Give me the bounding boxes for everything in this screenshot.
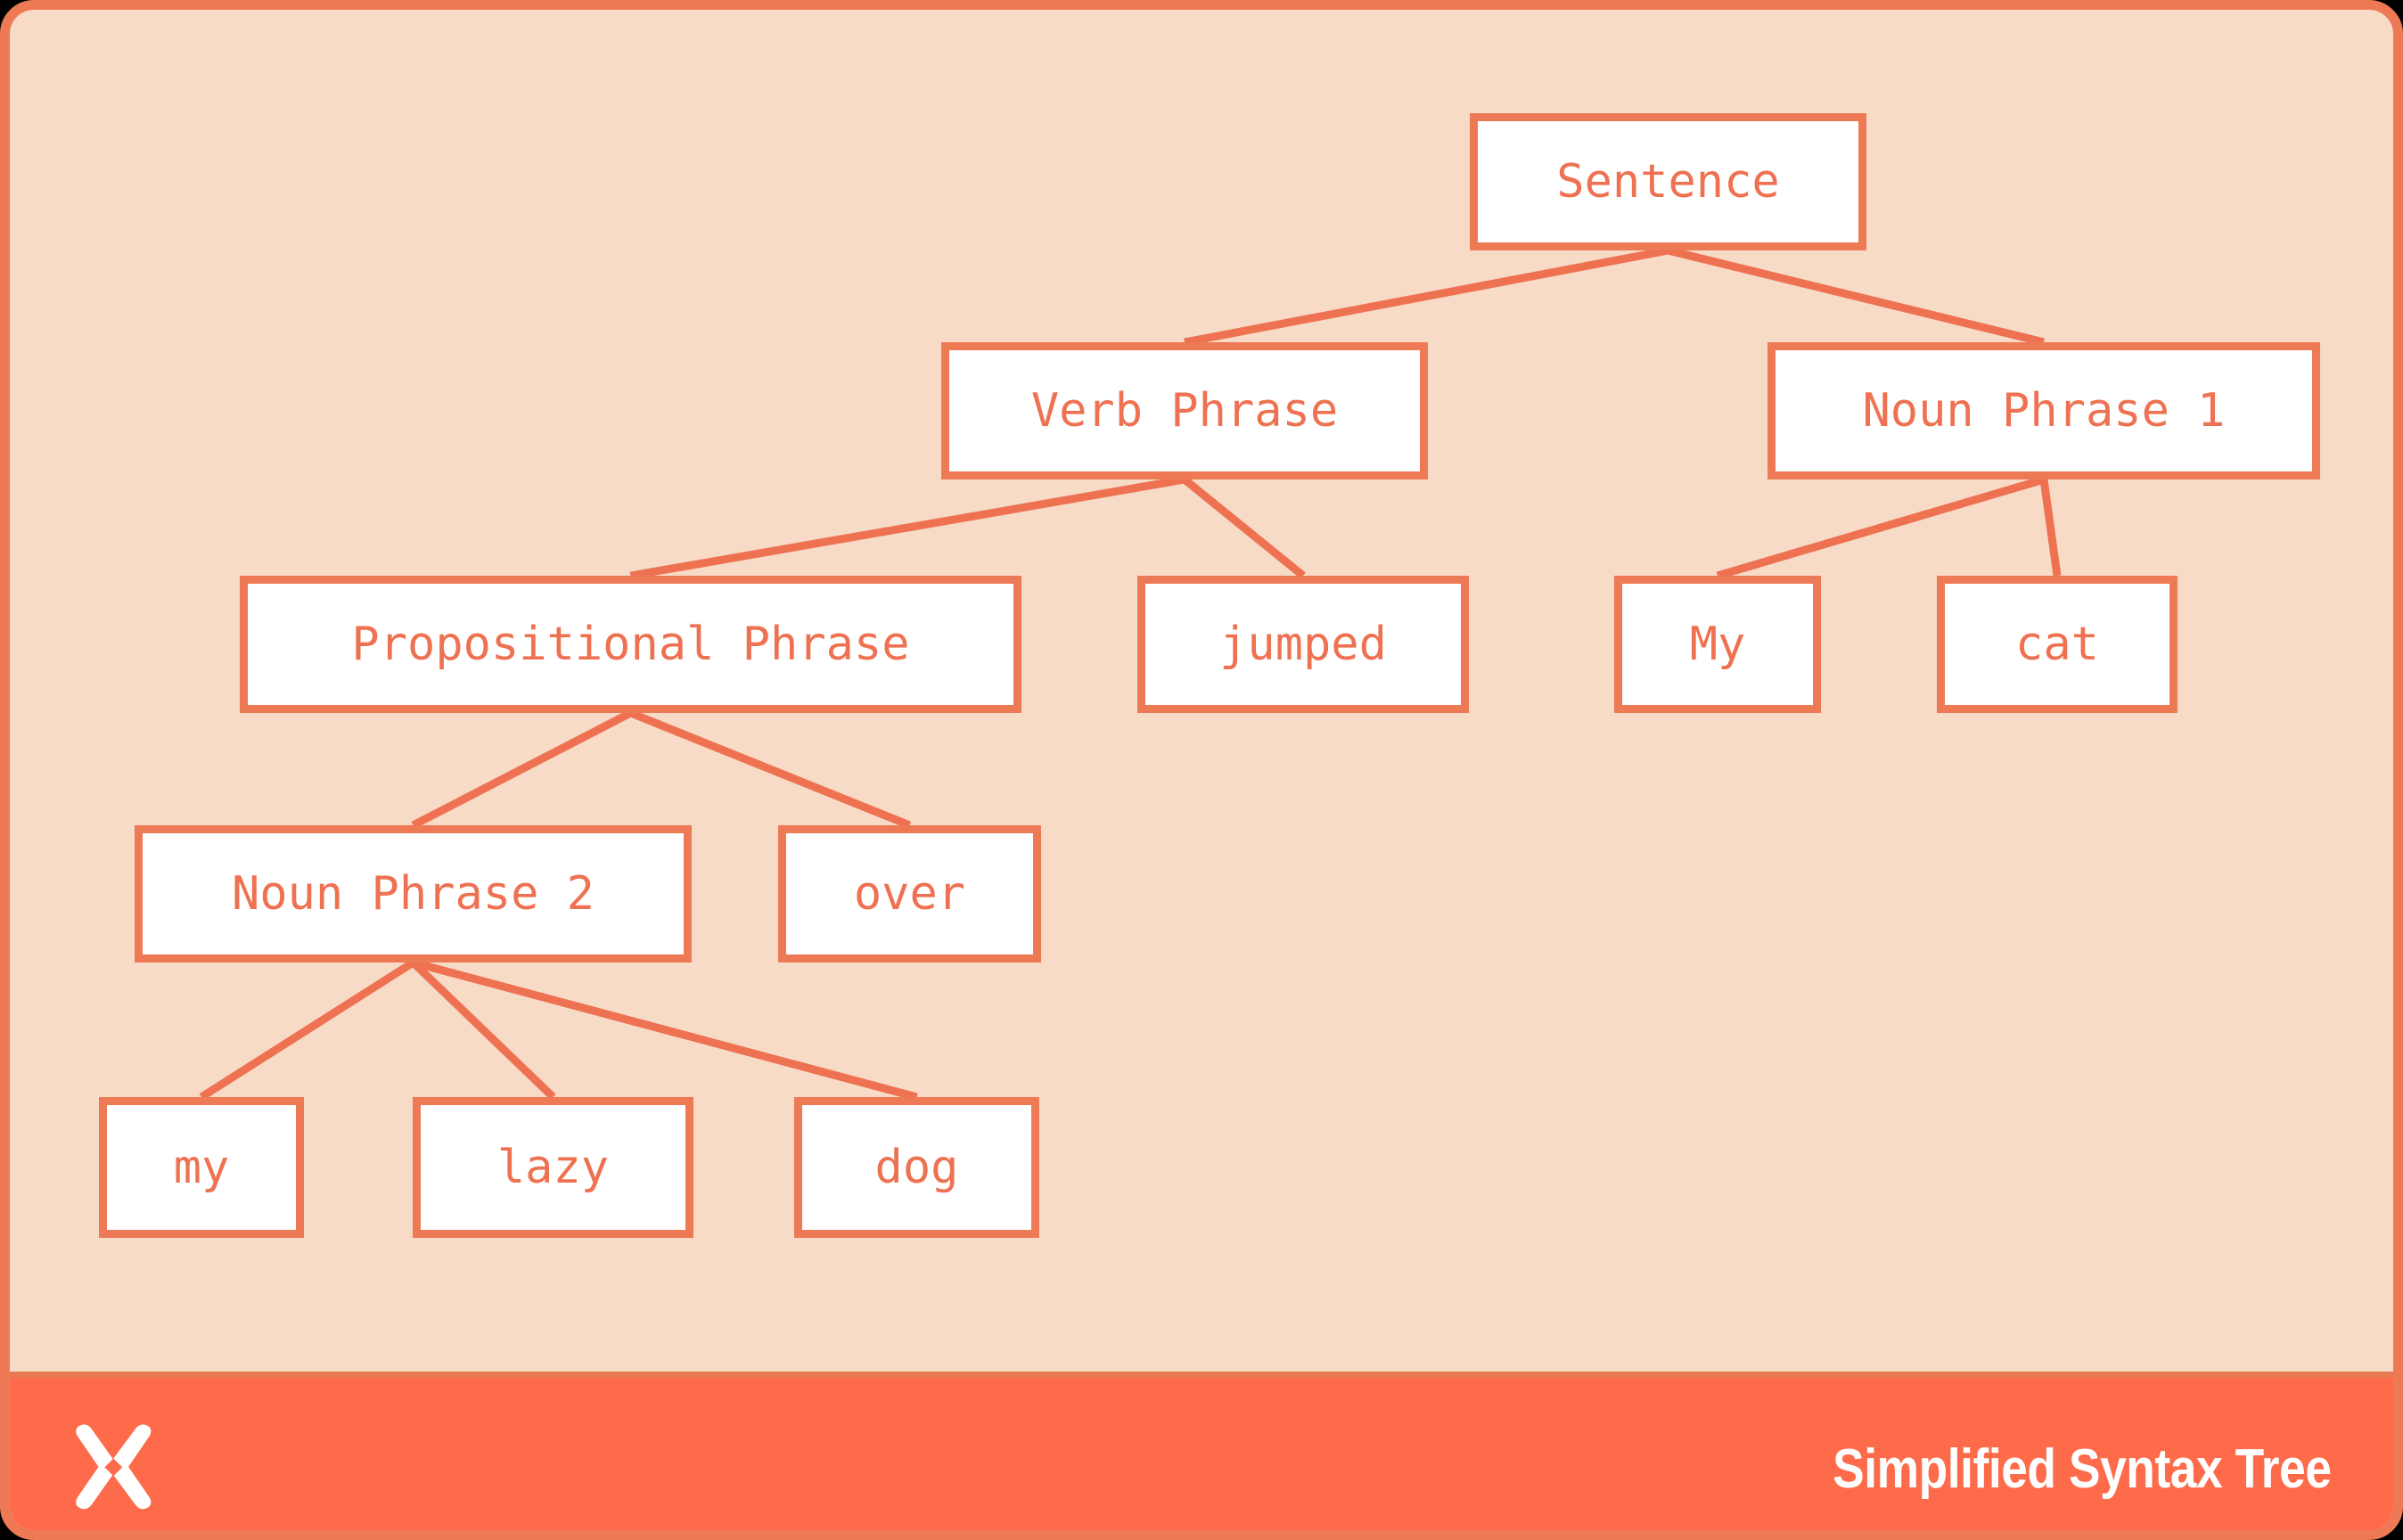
tree-node-label: my	[174, 1144, 230, 1191]
tree-node-prop-phrase[interactable]: Propositional Phrase	[240, 576, 1021, 713]
tree-node-jumped[interactable]: jumped	[1137, 576, 1469, 713]
tree-node-label: jumped	[1219, 621, 1387, 668]
tree-node-noun-phrase-2[interactable]: Noun Phrase 2	[135, 825, 692, 962]
footer-title: Simplified Syntax Tree	[1833, 1438, 2332, 1501]
tree-edge-noun-phrase-2-to-my-lower	[201, 962, 414, 1097]
tree-node-noun-phrase-1[interactable]: Noun Phrase 1	[1767, 342, 2320, 479]
tree-node-cat[interactable]: cat	[1937, 576, 2177, 713]
tree-node-label: dog	[875, 1144, 959, 1191]
tree-node-label: Verb Phrase	[1031, 388, 1338, 434]
footer-bar: Simplified Syntax Tree	[0, 1372, 2403, 1540]
tree-node-my-lower[interactable]: my	[99, 1097, 304, 1238]
tree-node-label: cat	[2015, 621, 2099, 668]
tree-edge-verb-phrase-to-jumped	[1185, 479, 1303, 576]
tree-edge-sentence-to-noun-phrase-1	[1669, 250, 2045, 342]
tree-edge-sentence-to-verb-phrase	[1185, 250, 1669, 342]
tree-node-label: lazy	[497, 1144, 609, 1191]
tree-node-dog[interactable]: dog	[794, 1097, 1039, 1238]
tree-diagram: SentenceVerb PhraseNoun Phrase 1Proposit…	[10, 10, 2403, 1372]
syntax-tree-poster: SentenceVerb PhraseNoun Phrase 1Proposit…	[0, 0, 2403, 1540]
tree-node-label: Noun Phrase 2	[232, 871, 595, 917]
tree-node-verb-phrase[interactable]: Verb Phrase	[941, 342, 1428, 479]
tree-node-over[interactable]: over	[778, 825, 1041, 962]
tree-node-label: over	[854, 871, 965, 917]
tree-edge-verb-phrase-to-prop-phrase	[631, 479, 1185, 576]
tree-node-lazy[interactable]: lazy	[413, 1097, 693, 1238]
tree-node-label: My	[1690, 621, 1746, 668]
tree-edge-prop-phrase-to-noun-phrase-2	[414, 713, 631, 825]
tree-edge-noun-phrase-1-to-cat	[2044, 479, 2057, 576]
butterfly-x-logo-icon	[68, 1421, 164, 1517]
tree-node-label: Propositional Phrase	[351, 621, 909, 668]
tree-edge-prop-phrase-to-over	[631, 713, 910, 825]
tree-node-my-cap[interactable]: My	[1614, 576, 1821, 713]
tree-node-label: Sentence	[1556, 159, 1779, 205]
tree-node-label: Noun Phrase 1	[1863, 388, 2226, 434]
tree-node-sentence[interactable]: Sentence	[1470, 113, 1866, 250]
tree-edge-noun-phrase-1-to-my-cap	[1718, 479, 2044, 576]
